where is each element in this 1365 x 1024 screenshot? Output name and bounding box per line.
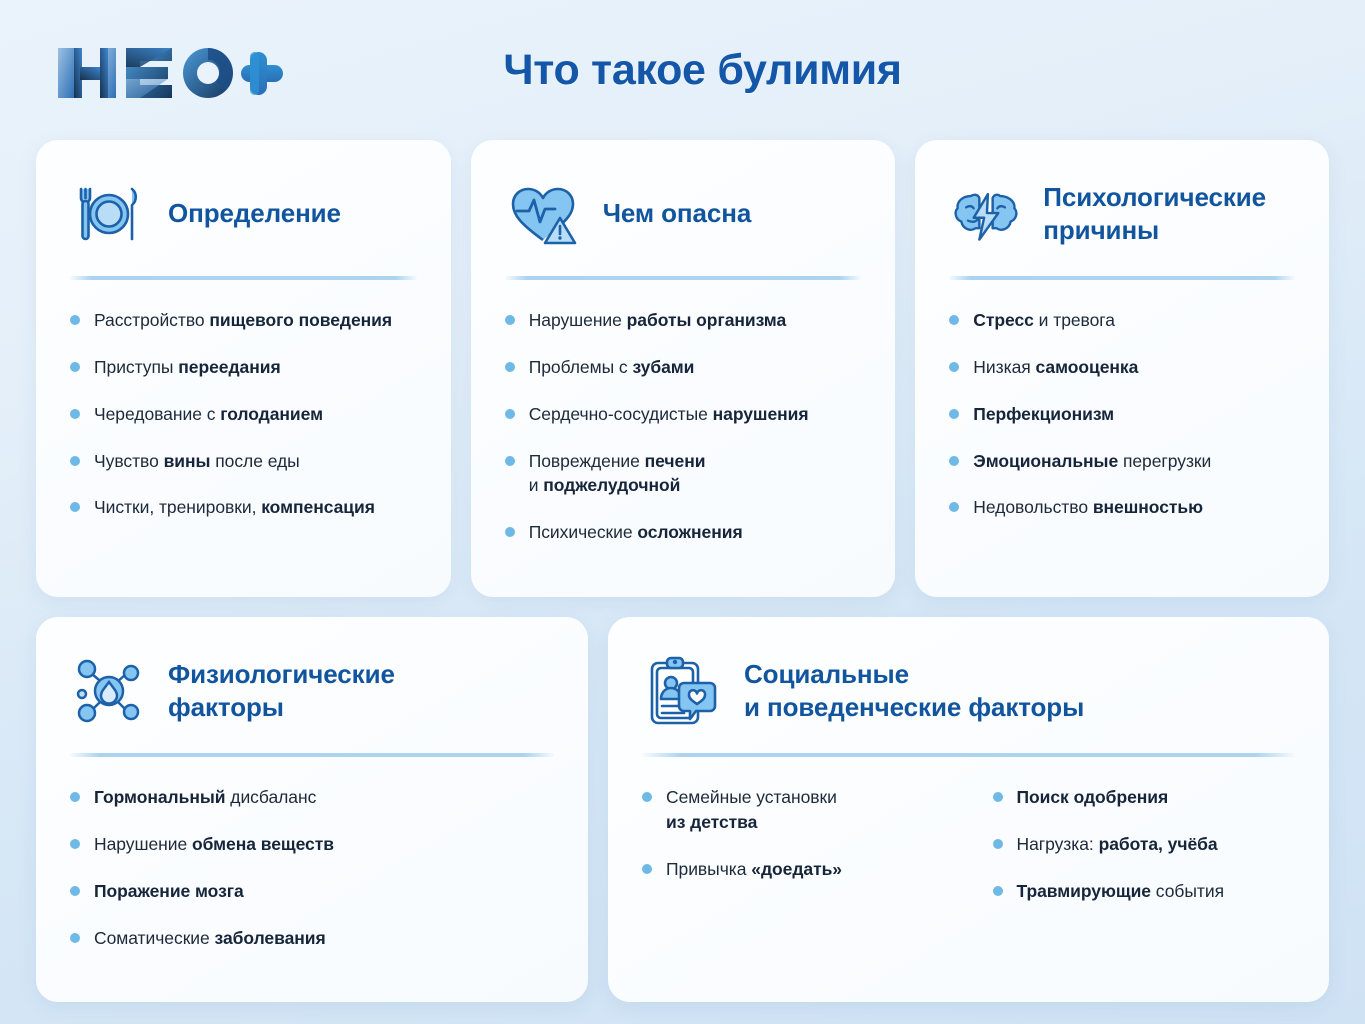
clipboard-person-heart-icon: [644, 652, 722, 730]
list-item: Семейные установкииз детства: [642, 785, 949, 835]
list-item: Нарушение работы организма: [505, 308, 866, 333]
card-danger: Чем опасна Нарушение работы организмаПро…: [471, 140, 896, 597]
bullet-dot-icon: [70, 792, 80, 802]
bullet-dot-icon: [70, 933, 80, 943]
list-item: Травмирующие события: [993, 879, 1300, 904]
card-divider: [642, 753, 1295, 757]
card-divider: [70, 276, 417, 280]
bullet-dot-icon: [949, 502, 959, 512]
list-item-text: Семейные установкииз детства: [666, 785, 837, 835]
list-item-text: Расстройство пищевого поведения: [94, 308, 392, 333]
card-title: Определение: [168, 197, 341, 230]
bullet-dot-icon: [993, 792, 1003, 802]
list-item-text: Нарушение обмена веществ: [94, 832, 334, 857]
card-title: Физиологическиефакторы: [168, 658, 395, 725]
list-item: Приступы переедания: [70, 355, 421, 380]
bullet-dot-icon: [949, 362, 959, 372]
card-header: Социальныеи поведенческие факторы: [638, 645, 1299, 737]
list-item: Проблемы с зубами: [505, 355, 866, 380]
bullet-dot-icon: [70, 315, 80, 325]
list-item-text: Нарушение работы организма: [529, 308, 786, 333]
bullet-dot-icon: [642, 792, 652, 802]
list-item-text: Сердечно-сосудистые нарушения: [529, 402, 809, 427]
list-item: Чистки, тренировки, компенсация: [70, 495, 421, 520]
cards-row-bottom: Физиологическиефакторы Гормональный дисб…: [36, 617, 1329, 1002]
card-social-behavioral-factors: Социальныеи поведенческие факторы Семейн…: [608, 617, 1329, 1002]
card-physiological-factors: Физиологическиефакторы Гормональный дисб…: [36, 617, 588, 1002]
bullet-dot-icon: [70, 409, 80, 419]
card-divider: [505, 276, 862, 280]
bullet-dot-icon: [70, 886, 80, 896]
list-item: Соматические заболевания: [70, 926, 558, 951]
bullet-dot-icon: [949, 315, 959, 325]
list-item-text: Соматические заболевания: [94, 926, 326, 951]
list-item-text: Чередование с голоданием: [94, 402, 323, 427]
list-item: Недовольство внешностью: [949, 495, 1299, 520]
bullet-dot-icon: [993, 839, 1003, 849]
list-item-text: Гормональный дисбаланс: [94, 785, 316, 810]
list-item: Расстройство пищевого поведения: [70, 308, 421, 333]
card-header: Чем опасна: [501, 168, 866, 260]
list-item: Чувство вины после еды: [70, 449, 421, 474]
bullet-dot-icon: [505, 456, 515, 466]
bullet-dot-icon: [70, 456, 80, 466]
list-item: Психические осложнения: [505, 520, 866, 545]
bullet-dot-icon: [70, 502, 80, 512]
bullet-dot-icon: [642, 864, 652, 874]
list-item-text: Повреждение печении поджелудочной: [529, 449, 706, 499]
card-title: Психологическиепричины: [1043, 181, 1266, 248]
heart-pulse-warning-icon: [507, 177, 581, 251]
list-item-text: Травмирующие события: [1017, 879, 1225, 904]
bullet-dot-icon: [505, 362, 515, 372]
list-item-text: Перфекционизм: [973, 402, 1114, 427]
list-item: Чередование с голоданием: [70, 402, 421, 427]
list-item-text: Нагрузка: работа, учёба: [1017, 832, 1218, 857]
list-item-text: Стресс и тревога: [973, 308, 1115, 333]
bullet-dot-icon: [70, 839, 80, 849]
bullet-list: Гормональный дисбалансНарушение обмена в…: [66, 785, 558, 950]
bullet-dot-icon: [70, 362, 80, 372]
cards-board: Определение Расстройство пищевого поведе…: [0, 140, 1365, 1002]
list-item-text: Недовольство внешностью: [973, 495, 1203, 520]
list-item: Поражение мозга: [70, 879, 558, 904]
list-item: Перфекционизм: [949, 402, 1299, 427]
list-item: Привычка «доедать»: [642, 857, 949, 882]
bullet-dot-icon: [505, 527, 515, 537]
brand-logo-neo-plus: [52, 42, 284, 104]
list-item-text: Привычка «доедать»: [666, 857, 842, 882]
cards-row-top: Определение Расстройство пищевого поведе…: [36, 140, 1329, 597]
card-title: Чем опасна: [603, 197, 752, 230]
bullet-list: Семейные установкииз детстваПривычка «до…: [638, 785, 1299, 915]
list-item: Эмоциональные перегрузки: [949, 449, 1299, 474]
list-item-text: Чистки, тренировки, компенсация: [94, 495, 375, 520]
bullet-dot-icon: [949, 456, 959, 466]
list-item-text: Низкая самооценка: [973, 355, 1138, 380]
list-item: Нагрузка: работа, учёба: [993, 832, 1300, 857]
card-psychological-causes: Психологическиепричины Стресс и тревогаН…: [915, 140, 1329, 597]
list-item: Сердечно-сосудистые нарушения: [505, 402, 866, 427]
list-item-text: Психические осложнения: [529, 520, 743, 545]
card-header: Определение: [66, 168, 421, 260]
card-header: Физиологическиефакторы: [66, 645, 558, 737]
bullet-list: Расстройство пищевого поведенияПриступы …: [66, 308, 421, 520]
page-header: Что такое булимия: [0, 0, 1365, 140]
bullet-dot-icon: [949, 409, 959, 419]
bullet-dot-icon: [505, 315, 515, 325]
list-item: Повреждение печении поджелудочной: [505, 449, 866, 499]
bullet-dot-icon: [993, 886, 1003, 896]
brain-lightning-icon: [951, 179, 1021, 249]
list-item-text: Эмоциональные перегрузки: [973, 449, 1211, 474]
molecule-hormone-icon: [72, 654, 146, 728]
list-item: Поиск одобрения: [993, 785, 1300, 810]
card-definition: Определение Расстройство пищевого поведе…: [36, 140, 451, 597]
card-title: Социальныеи поведенческие факторы: [744, 658, 1084, 725]
list-item-text: Приступы переедания: [94, 355, 281, 380]
bullet-list: Нарушение работы организмаПроблемы с зуб…: [501, 308, 866, 545]
plate-fork-knife-icon: [72, 177, 146, 251]
bullet-list: Стресс и тревогаНизкая самооценкаПерфекц…: [945, 308, 1299, 520]
list-item-text: Поражение мозга: [94, 879, 244, 904]
bullet-dot-icon: [505, 409, 515, 419]
card-divider: [70, 753, 554, 757]
list-item: Гормональный дисбаланс: [70, 785, 558, 810]
list-item-text: Поиск одобрения: [1017, 785, 1169, 810]
list-item-text: Проблемы с зубами: [529, 355, 695, 380]
card-divider: [949, 276, 1295, 280]
list-item: Низкая самооценка: [949, 355, 1299, 380]
list-item-text: Чувство вины после еды: [94, 449, 300, 474]
card-header: Психологическиепричины: [945, 168, 1299, 260]
list-item: Стресс и тревога: [949, 308, 1299, 333]
list-item: Нарушение обмена веществ: [70, 832, 558, 857]
